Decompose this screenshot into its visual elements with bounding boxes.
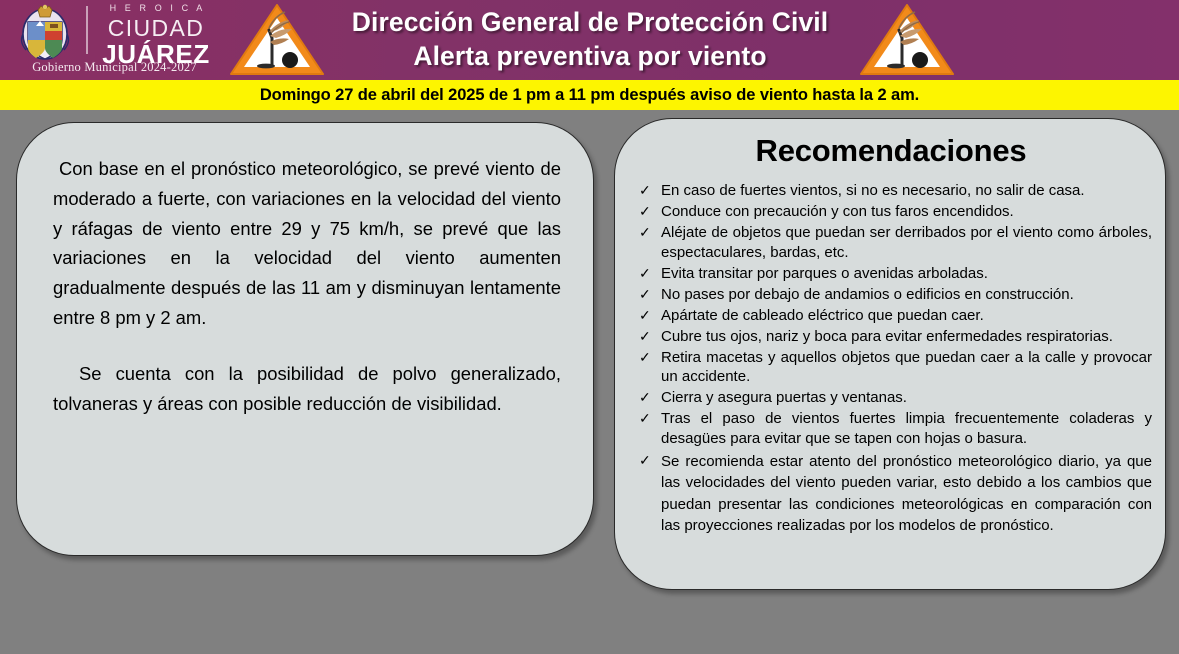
- recommendation-text: Aléjate de objetos que puedan ser derrib…: [661, 223, 1152, 263]
- forecast-panel: Con base en el pronóstico meteorológico,…: [16, 122, 594, 556]
- forecast-paragraph-2: Se cuenta con la posibilidad de polvo ge…: [53, 359, 561, 419]
- brand-heroica: H E R O I C A: [99, 4, 216, 13]
- forecast-text: Con base en el pronóstico meteorológico,…: [53, 154, 561, 419]
- poster-body: Con base en el pronóstico meteorológico,…: [0, 110, 1179, 654]
- recommendation-text: Se recomienda estar atento del pronóstic…: [661, 451, 1152, 536]
- recommendation-text: Cierra y asegura puertas y ventanas.: [661, 388, 1152, 408]
- check-mark-icon: ✓: [637, 388, 661, 407]
- recommendation-item: ✓Cubre tus ojos, nariz y boca para evita…: [637, 327, 1152, 347]
- recommendation-text: Cubre tus ojos, nariz y boca para evitar…: [661, 327, 1152, 347]
- recommendation-text: Apártate de cableado eléctrico que pueda…: [661, 306, 1152, 326]
- brand-gobierno-municipal: Gobierno Municipal 2024-2027: [12, 60, 217, 75]
- recommendation-text: Conduce con precaución y con tus faros e…: [661, 202, 1152, 222]
- recommendation-text: No pases por debajo de andamios o edific…: [661, 285, 1152, 305]
- recommendation-text: Retira macetas y aquellos objetos que pu…: [661, 348, 1152, 388]
- recommendation-text: Tras el paso de vientos fuertes limpia f…: [661, 409, 1152, 449]
- brand-ciudad: CIUDAD: [96, 17, 216, 40]
- recommendations-title: Recomendaciones: [615, 133, 1167, 169]
- recommendation-item: ✓Tras el paso de vientos fuertes limpia …: [637, 409, 1152, 449]
- recommendation-item: ✓Aléjate de objetos que puedan ser derri…: [637, 223, 1152, 263]
- recommendation-item: ✓Apártate de cableado eléctrico que pued…: [637, 306, 1152, 326]
- wind-alert-poster: H E R O I C A CIUDAD JUÁREZ Gobierno Mun…: [0, 0, 1179, 654]
- wind-warning-triangle-icon: [858, 2, 956, 78]
- check-mark-icon: ✓: [637, 409, 661, 428]
- check-mark-icon: ✓: [637, 264, 661, 283]
- check-mark-icon: ✓: [637, 327, 661, 346]
- recommendation-item: ✓En caso de fuertes vientos, si no es ne…: [637, 181, 1152, 201]
- recommendation-item: ✓Conduce con precaución y con tus faros …: [637, 202, 1152, 222]
- forecast-paragraph-1: Con base en el pronóstico meteorológico,…: [53, 154, 561, 333]
- recommendation-text: En caso de fuertes vientos, si no es nec…: [661, 181, 1152, 201]
- check-mark-icon: ✓: [637, 348, 661, 367]
- recommendation-text: Evita transitar por parques o avenidas a…: [661, 264, 1152, 284]
- recommendation-item: ✓No pases por debajo de andamios o edifi…: [637, 285, 1152, 305]
- recommendation-item: ✓Retira macetas y aquellos objetos que p…: [637, 348, 1152, 388]
- check-mark-icon: ✓: [637, 451, 661, 470]
- recommendation-item: ✓Cierra y asegura puertas y ventanas.: [637, 388, 1152, 408]
- alert-date-text: Domingo 27 de abril del 2025 de 1 pm a 1…: [260, 86, 919, 105]
- title-line-2: Alerta preventiva por viento: [300, 40, 880, 74]
- poster-header: H E R O I C A CIUDAD JUÁREZ Gobierno Mun…: [0, 0, 1179, 80]
- alert-date-banner: Domingo 27 de abril del 2025 de 1 pm a 1…: [0, 80, 1179, 110]
- check-mark-icon: ✓: [637, 285, 661, 304]
- page-title: Dirección General de Protección Civil Al…: [300, 6, 880, 74]
- title-line-1: Dirección General de Protección Civil: [300, 6, 880, 40]
- city-brand: H E R O I C A CIUDAD JUÁREZ: [96, 4, 216, 67]
- recommendations-panel: Recomendaciones ✓En caso de fuertes vien…: [614, 118, 1166, 590]
- check-mark-icon: ✓: [637, 202, 661, 221]
- header-divider: [86, 6, 88, 54]
- coat-of-arms-icon: [14, 4, 76, 62]
- recommendation-item: ✓Se recomienda estar atento del pronósti…: [637, 451, 1152, 536]
- check-mark-icon: ✓: [637, 306, 661, 325]
- recommendations-list: ✓En caso de fuertes vientos, si no es ne…: [637, 181, 1152, 537]
- recommendation-item: ✓Evita transitar por parques o avenidas …: [637, 264, 1152, 284]
- check-mark-icon: ✓: [637, 223, 661, 242]
- check-mark-icon: ✓: [637, 181, 661, 200]
